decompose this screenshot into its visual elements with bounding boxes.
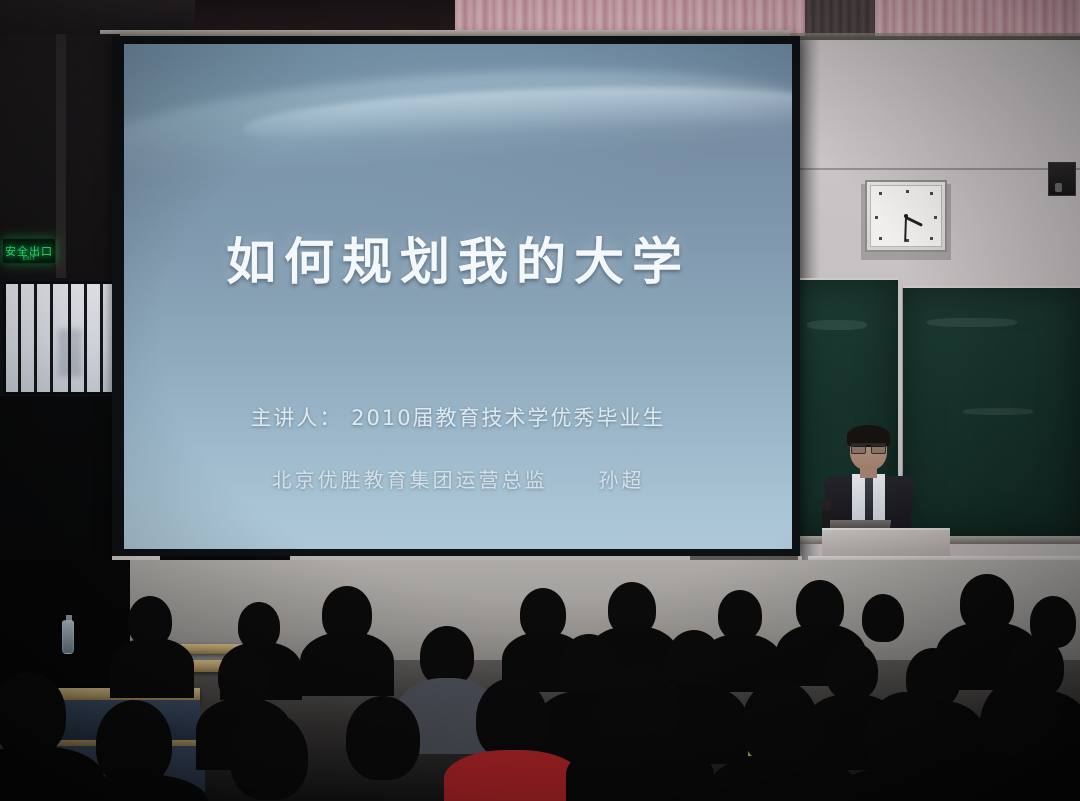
audience-head — [420, 626, 474, 686]
clock-center-pin — [904, 214, 908, 218]
audience-head — [230, 712, 308, 800]
audience-head — [476, 678, 548, 760]
glasses-icon — [851, 443, 886, 451]
emergency-exit-sign: 安全出口 EXIT — [2, 238, 56, 264]
lecture-hall-photo: 安全出口 EXIT 如何规划我的大学 主讲人： 2010届教育技术学优秀毕业生 … — [0, 0, 1080, 801]
audience-shoulders — [110, 638, 194, 698]
slide-title: 如何规划我的大学 — [124, 222, 792, 294]
wall-speaker-icon — [1048, 162, 1076, 196]
slide-subtitle-presenter: 主讲人： 2010届教育技术学优秀毕业生 — [124, 402, 792, 432]
presenter-tie — [865, 478, 873, 522]
audience-shoulders — [712, 754, 854, 801]
audience-shoulders — [566, 742, 714, 801]
curtain-dark-middle — [805, 0, 875, 36]
exit-sign-label-cn: 安全出口 — [5, 246, 53, 257]
audience-head — [862, 594, 904, 642]
slide-subtitle-affiliation: 北京优胜教育集团运营总监 孙超 — [124, 464, 792, 493]
wall-seam-line — [790, 168, 1080, 170]
slide-presenter-name: 孙超 — [598, 468, 644, 492]
slide-org-label: 北京优胜教育集团运营总监 — [272, 468, 548, 492]
audience-head — [718, 590, 762, 640]
audience-area — [0, 560, 1080, 801]
audience-head — [346, 696, 420, 780]
exit-sign-label-en: EXIT — [3, 256, 55, 262]
audience-shoulders — [444, 750, 582, 801]
audience-head — [0, 672, 66, 756]
chalkboard-right — [902, 286, 1080, 538]
water-bottle — [62, 620, 74, 654]
audience-head — [666, 630, 722, 692]
audience-shoulders — [300, 632, 394, 696]
clock-face — [870, 185, 942, 247]
audience-head — [826, 642, 878, 700]
wall-clock-icon — [865, 180, 947, 252]
audience-head — [218, 648, 268, 704]
curtain-dark-section — [195, 0, 457, 34]
left-window — [0, 278, 118, 398]
left-pillar — [56, 34, 66, 280]
curtain-pink-right — [875, 0, 1080, 36]
projection-screen: 如何规划我的大学 主讲人： 2010届教育技术学优秀毕业生 北京优胜教育集团运营… — [124, 44, 792, 549]
clock-hour-hand — [905, 216, 922, 227]
window-glass — [6, 284, 112, 392]
